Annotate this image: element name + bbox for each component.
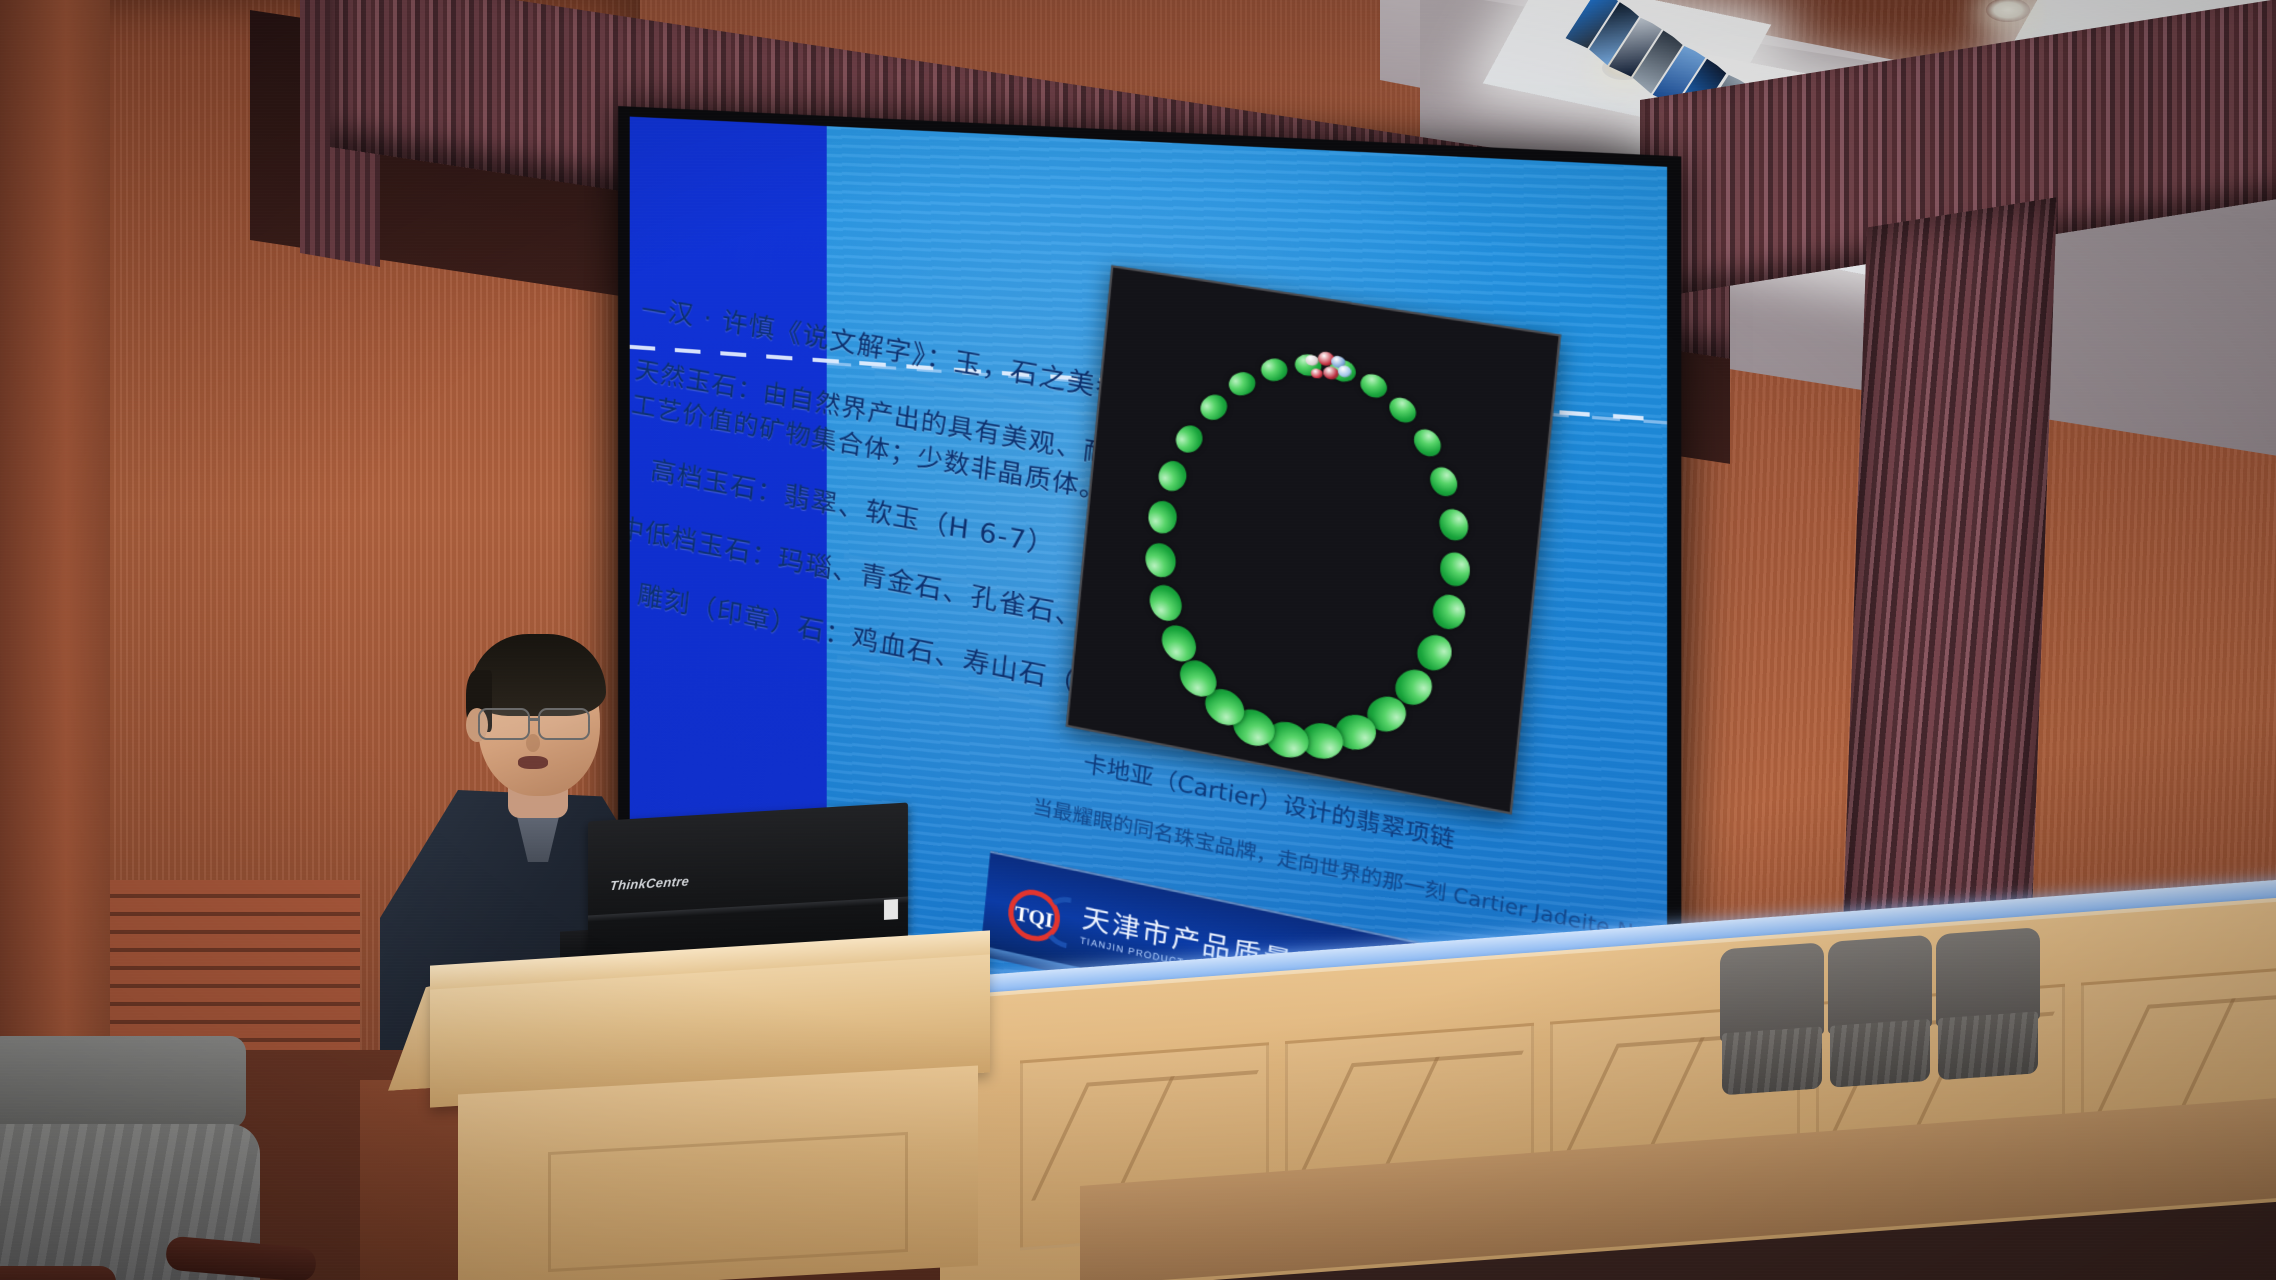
- jade-bead: [1145, 543, 1177, 577]
- glasses-bridge: [530, 718, 540, 721]
- audience-seat-row[interactable]: [1720, 926, 2050, 1109]
- executive-chair[interactable]: [0, 1020, 310, 1280]
- jade-bead: [1155, 456, 1192, 495]
- jade-bead: [1408, 425, 1446, 462]
- seat-cushion: [1830, 1019, 1930, 1088]
- lectern-shadow-side: [360, 1080, 470, 1280]
- jade-bead: [1147, 498, 1180, 536]
- presenter-mouth: [518, 756, 548, 769]
- necklace-clasp-gem: [1310, 367, 1323, 379]
- jade-bead: [1171, 420, 1209, 458]
- lectern-front-panel: [548, 1132, 908, 1272]
- jade-bead: [1385, 393, 1422, 428]
- jade-bead: [1224, 368, 1259, 399]
- lectern[interactable]: [430, 960, 990, 1280]
- eyeglasses-icon: [476, 708, 604, 742]
- jade-bead: [1195, 390, 1232, 425]
- seat-cushion: [1722, 1026, 1822, 1095]
- lens-left: [478, 708, 530, 740]
- jade-bead: [1146, 582, 1187, 624]
- jade-bead: [1258, 356, 1289, 382]
- jade-bead: [1437, 507, 1471, 541]
- jade-bead: [1425, 463, 1462, 499]
- auditorium-scene: —汉 · 许慎《说文解字》：玉，石之美者，有五德。 天然玉石：由自然界产出的具有…: [0, 0, 2276, 1280]
- seat-cushion: [1938, 1011, 2038, 1080]
- audience-seat-1[interactable]: [1720, 942, 1824, 1107]
- chair-armrest-left: [0, 1266, 116, 1280]
- jade-necklace-photo: [1066, 265, 1561, 815]
- audience-seat-3[interactable]: [1936, 927, 2040, 1092]
- lens-right: [538, 708, 590, 740]
- tqi-logo-icon: TQI: [997, 881, 1072, 949]
- audience-seat-2[interactable]: [1828, 935, 1932, 1100]
- jade-bead: [1429, 590, 1469, 633]
- chair-headrest: [0, 1036, 246, 1128]
- monitor-tag: [884, 899, 898, 920]
- jade-bead: [1357, 370, 1391, 402]
- jade-bead: [1440, 550, 1471, 586]
